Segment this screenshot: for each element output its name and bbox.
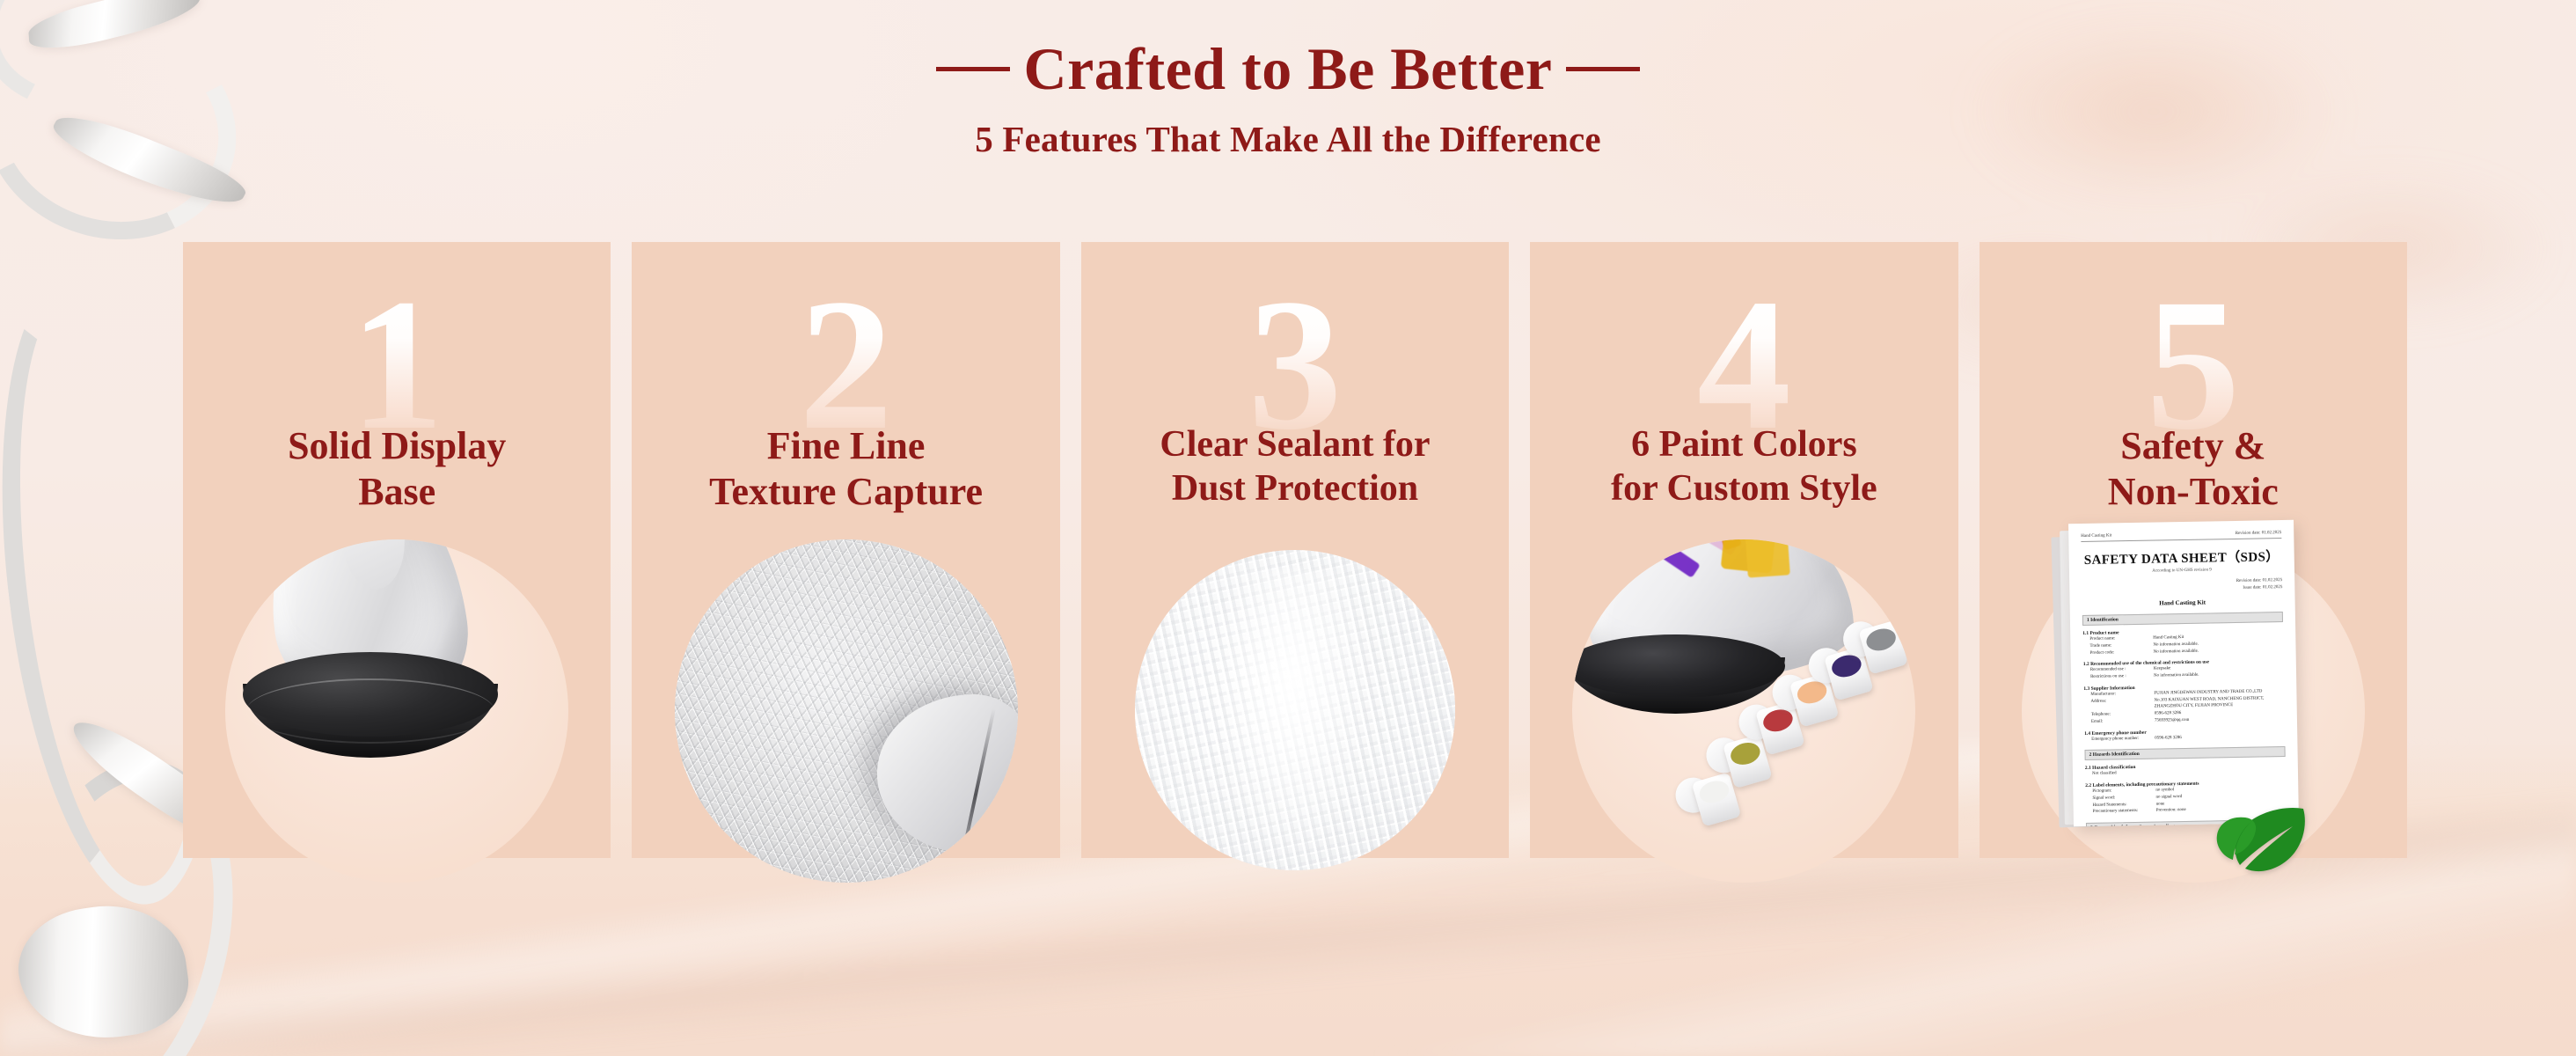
sds-running-header: Hand Casting Kit Revision date: 01.02.20…	[2081, 531, 2281, 542]
sds-kv-key: Precautionary statements:	[2092, 808, 2155, 816]
sds-rows-1-2: Recommended use :Keepsake Restrictions o…	[2090, 664, 2284, 680]
sds-section-2: 2 Hazards Identification	[2084, 746, 2285, 760]
feature-card-3[interactable]: 3 Clear Sealant for Dust Protection	[1081, 242, 1509, 858]
sds-product-heading: Hand Casting Kit	[2082, 598, 2282, 608]
feature-title-2-line2: Texture Capture	[639, 469, 1052, 515]
sds-kv-key: Product code:	[2089, 649, 2153, 656]
sds-kv-val: 0596-628 3286	[2155, 732, 2285, 741]
sds-kv-key: Emergency phone number:	[2091, 735, 2155, 743]
poster-header: Crafted to Be Better 5 Features That Mak…	[0, 39, 2576, 160]
feature-card-4[interactable]: 4 6 Paint Colors for Custom Style	[1530, 242, 1958, 858]
feature-title-5-line1: Safety &	[1987, 423, 2400, 469]
feature-title-4-line2: for Custom Style	[1537, 467, 1950, 511]
sds-kv-val: Not classified	[2092, 770, 2155, 778]
black-display-base	[243, 652, 498, 761]
feature-image-2	[675, 539, 1018, 883]
sds-dates: Revision date: 01.02.2025 Issue date: 01…	[2082, 577, 2282, 594]
feature-title-3-line2: Dust Protection	[1088, 467, 1502, 511]
feature-title-1-line2: Base	[190, 469, 604, 515]
page-title: Crafted to Be Better	[1024, 39, 1553, 99]
sds-header-left: Hand Casting Kit	[2081, 533, 2111, 539]
sds-kv-val: 75693925@qq.com	[2155, 715, 2285, 724]
feature-title-3: Clear Sealant for Dust Protection	[1088, 423, 1502, 510]
feature-card-5[interactable]: 5 Safety & Non-Toxic Hand Casting Kit Re…	[1980, 242, 2407, 858]
paint-stroke-purple	[1631, 539, 1701, 578]
feature-image-4	[1572, 539, 1915, 883]
feature-title-1-line1: Solid Display	[190, 423, 604, 469]
green-leaf-eco-icon	[2215, 803, 2312, 877]
feature-title-4-line1: 6 Paint Colors	[1537, 423, 1950, 467]
title-row: Crafted to Be Better	[0, 39, 2576, 99]
sds-rows-1-1: Product name:Hand Casting Kit Trade name…	[2089, 633, 2283, 656]
feature-card-2[interactable]: 2 Fine Line Texture Capture	[632, 242, 1059, 858]
feature-image-1	[225, 539, 568, 883]
title-dash-right-icon	[1566, 67, 1640, 71]
sds-header-right: Revision date: 01.02.2025	[2235, 531, 2281, 536]
sds-section-1: 1 Identification	[2082, 612, 2283, 626]
feature-title-3-line1: Clear Sealant for	[1088, 423, 1502, 467]
sds-document[interactable]: Hand Casting Kit Revision date: 01.02.20…	[2068, 520, 2299, 826]
sds-title: SAFETY DATA SHEET（SDS）	[2081, 546, 2281, 568]
feature-title-1: Solid Display Base	[190, 423, 604, 515]
sealant-gloss-highlight	[1218, 569, 1365, 851]
sds-document-stack: Hand Casting Kit Revision date: 01.02.20…	[2048, 522, 2338, 900]
sds-kv-key: Address:	[2090, 697, 2154, 712]
feature-title-5-line2: Non-Toxic	[1987, 469, 2400, 515]
feature-card-1[interactable]: 1 Solid Display Base	[183, 242, 611, 858]
feature-image-3	[1135, 550, 1455, 870]
paint-stroke-gold-2	[1745, 539, 1791, 578]
sds-kv-val: No information available.	[2154, 671, 2284, 679]
feature-title-2: Fine Line Texture Capture	[639, 423, 1052, 515]
sds-kv-key: Email:	[2091, 717, 2155, 725]
poster-stage: Crafted to Be Better 5 Features That Mak…	[0, 0, 2576, 1056]
feature-title-5: Safety & Non-Toxic	[1987, 423, 2400, 515]
sds-kv-val: No information available.	[2153, 647, 2283, 656]
feature-title-4: 6 Paint Colors for Custom Style	[1537, 423, 1950, 510]
page-subtitle: 5 Features That Make All the Difference	[0, 118, 2576, 160]
sds-kv-key: Restrictions on use :	[2090, 673, 2154, 681]
feature-title-2-line1: Fine Line	[639, 423, 1052, 469]
feature-card-grid: 1 Solid Display Base 2 Fine Lin	[183, 242, 2407, 858]
sds-rows-1-3: Manufacturer:FUJIAN JINGDEWAN INDUSTRY A…	[2090, 688, 2285, 726]
title-dash-left-icon	[936, 67, 1010, 71]
